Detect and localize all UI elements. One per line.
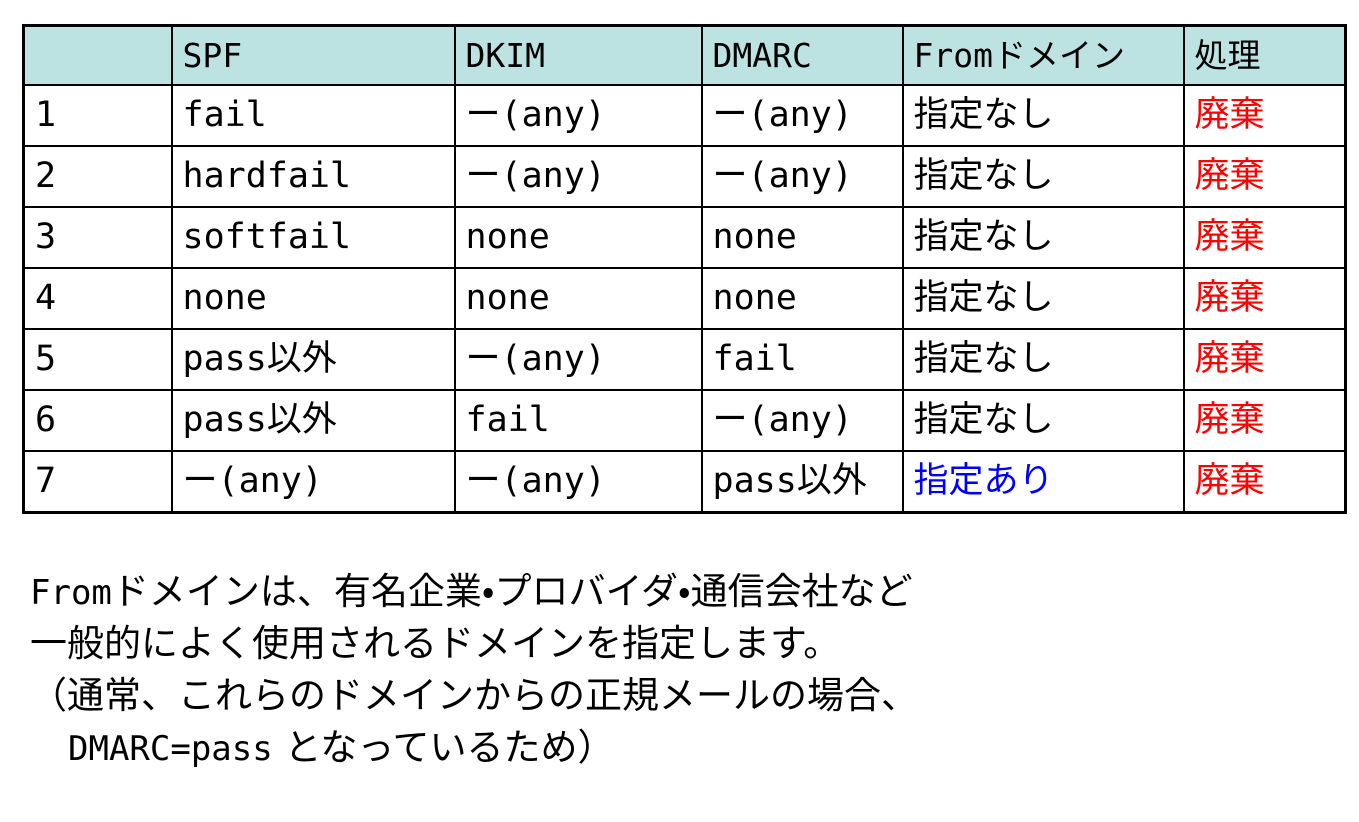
table-row: 1 fail ー(any) ー(any) 指定なし 廃棄: [24, 85, 1346, 146]
table-row: 6 pass以外 fail ー(any) 指定なし 廃棄: [24, 390, 1346, 451]
cell-spf: ー(any): [172, 451, 455, 513]
cell-from-domain: 指定なし: [903, 329, 1184, 390]
cell-dmarc: ー(any): [702, 390, 903, 451]
note-line-1-rest: ドメインは、有名企業・プロバイダ・通信会社など: [112, 570, 913, 613]
policy-table-container: SPF DKIM DMARC Fromドメイン 処理 1 fail ー(any)…: [22, 24, 1344, 514]
row-number: 6: [24, 390, 172, 451]
cell-dmarc: none: [702, 207, 903, 268]
cell-action: 廃棄: [1184, 390, 1346, 451]
cell-dkim: none: [455, 207, 702, 268]
header-cell-dmarc: DMARC: [702, 26, 903, 86]
cell-dmarc: pass以外: [702, 451, 903, 513]
table-row: 2 hardfail ー(any) ー(any) 指定なし 廃棄: [24, 146, 1346, 207]
note-line-1: Fromドメインは、有名企業・プロバイダ・通信会社など: [30, 566, 1320, 618]
cell-dkim: ー(any): [455, 85, 702, 146]
cell-action: 廃棄: [1184, 146, 1346, 207]
cell-from-domain: 指定なし: [903, 207, 1184, 268]
spf-dkim-dmarc-policy-table: SPF DKIM DMARC Fromドメイン 処理 1 fail ー(any)…: [22, 24, 1347, 514]
header-cell-no: [24, 26, 172, 86]
cell-spf: hardfail: [172, 146, 455, 207]
cell-action: 廃棄: [1184, 451, 1346, 513]
header-cell-from-domain: Fromドメイン: [903, 26, 1184, 86]
cell-spf: pass以外: [172, 329, 455, 390]
cell-action: 廃棄: [1184, 329, 1346, 390]
cell-dkim: none: [455, 268, 702, 329]
cell-from-domain: 指定なし: [903, 146, 1184, 207]
row-number: 3: [24, 207, 172, 268]
cell-action: 廃棄: [1184, 207, 1346, 268]
note-line-3: （通常、これらのドメインからの正規メールの場合、: [30, 670, 1320, 722]
note-paragraph: Fromドメインは、有名企業・プロバイダ・通信会社など 一般的によく使用されるド…: [30, 566, 1320, 774]
cell-from-domain: 指定あり: [903, 451, 1184, 513]
table-row: 5 pass以外 ー(any) fail 指定なし 廃棄: [24, 329, 1346, 390]
table-row: 7 ー(any) ー(any) pass以外 指定あり 廃棄: [24, 451, 1346, 513]
table-header: SPF DKIM DMARC Fromドメイン 処理: [24, 26, 1346, 86]
cell-from-domain: 指定なし: [903, 85, 1184, 146]
cell-dmarc: ー(any): [702, 85, 903, 146]
table-body: 1 fail ー(any) ー(any) 指定なし 廃棄 2 hardfail …: [24, 85, 1346, 513]
cell-dkim: ー(any): [455, 451, 702, 513]
cell-spf: none: [172, 268, 455, 329]
cell-action: 廃棄: [1184, 268, 1346, 329]
table-row: 4 none none none 指定なし 廃棄: [24, 268, 1346, 329]
note-line-2: 一般的によく使用されるドメインを指定します。: [30, 618, 1320, 670]
cell-spf: fail: [172, 85, 455, 146]
note-line-4-mono: DMARC=pass: [68, 729, 273, 769]
row-number: 2: [24, 146, 172, 207]
cell-dmarc: none: [702, 268, 903, 329]
cell-from-domain: 指定なし: [903, 268, 1184, 329]
header-row: SPF DKIM DMARC Fromドメイン 処理: [24, 26, 1346, 86]
row-number: 7: [24, 451, 172, 513]
row-number: 4: [24, 268, 172, 329]
cell-dkim: fail: [455, 390, 702, 451]
cell-from-domain: 指定なし: [903, 390, 1184, 451]
header-cell-dkim: DKIM: [455, 26, 702, 86]
row-number: 5: [24, 329, 172, 390]
header-cell-spf: SPF: [172, 26, 455, 86]
cell-dmarc: ー(any): [702, 146, 903, 207]
slide-page: SPF DKIM DMARC Fromドメイン 処理 1 fail ー(any)…: [0, 0, 1359, 822]
cell-dmarc: fail: [702, 329, 903, 390]
note-line-1-mono: From: [30, 573, 112, 613]
cell-spf: pass以外: [172, 390, 455, 451]
cell-dkim: ー(any): [455, 329, 702, 390]
cell-dkim: ー(any): [455, 146, 702, 207]
header-cell-action: 処理: [1184, 26, 1346, 86]
cell-action: 廃棄: [1184, 85, 1346, 146]
note-line-4-rest: となっているため）: [273, 726, 615, 769]
table-row: 3 softfail none none 指定なし 廃棄: [24, 207, 1346, 268]
note-line-4: DMARC=pass となっているため）: [30, 722, 1320, 774]
row-number: 1: [24, 85, 172, 146]
cell-spf: softfail: [172, 207, 455, 268]
